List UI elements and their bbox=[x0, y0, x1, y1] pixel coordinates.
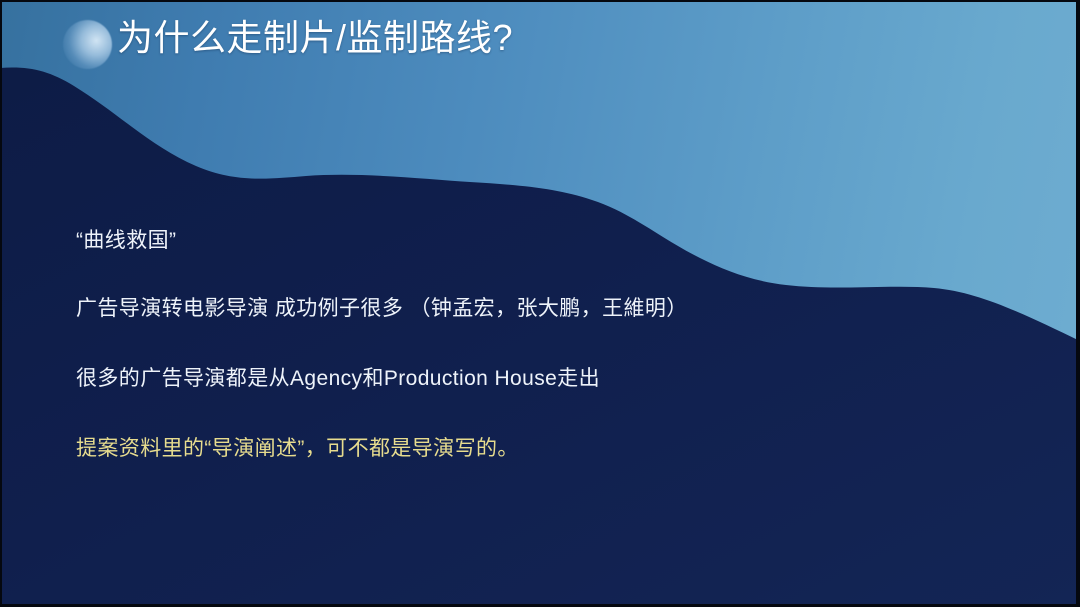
presentation-slide: 为什么走制片/监制路线? “曲线救国” 广告导演转电影导演 成功例子很多 （钟孟… bbox=[0, 0, 1080, 607]
sphere-orb-icon bbox=[63, 20, 112, 69]
body-line-2: 广告导演转电影导演 成功例子很多 （钟孟宏，张大鹏，王維明） bbox=[76, 296, 976, 322]
body-line-3: 很多的广告导演都是从Agency和Production House走出 bbox=[76, 366, 976, 392]
body-line-4-highlight: 提案资料里的“导演阐述”，可不都是导演写的。 bbox=[76, 436, 976, 462]
body-text-block: “曲线救国” 广告导演转电影导演 成功例子很多 （钟孟宏，张大鹏，王維明） 很多… bbox=[76, 228, 976, 462]
page-title: 为什么走制片/监制路线? bbox=[117, 17, 513, 59]
body-line-1: “曲线救国” bbox=[76, 228, 976, 254]
